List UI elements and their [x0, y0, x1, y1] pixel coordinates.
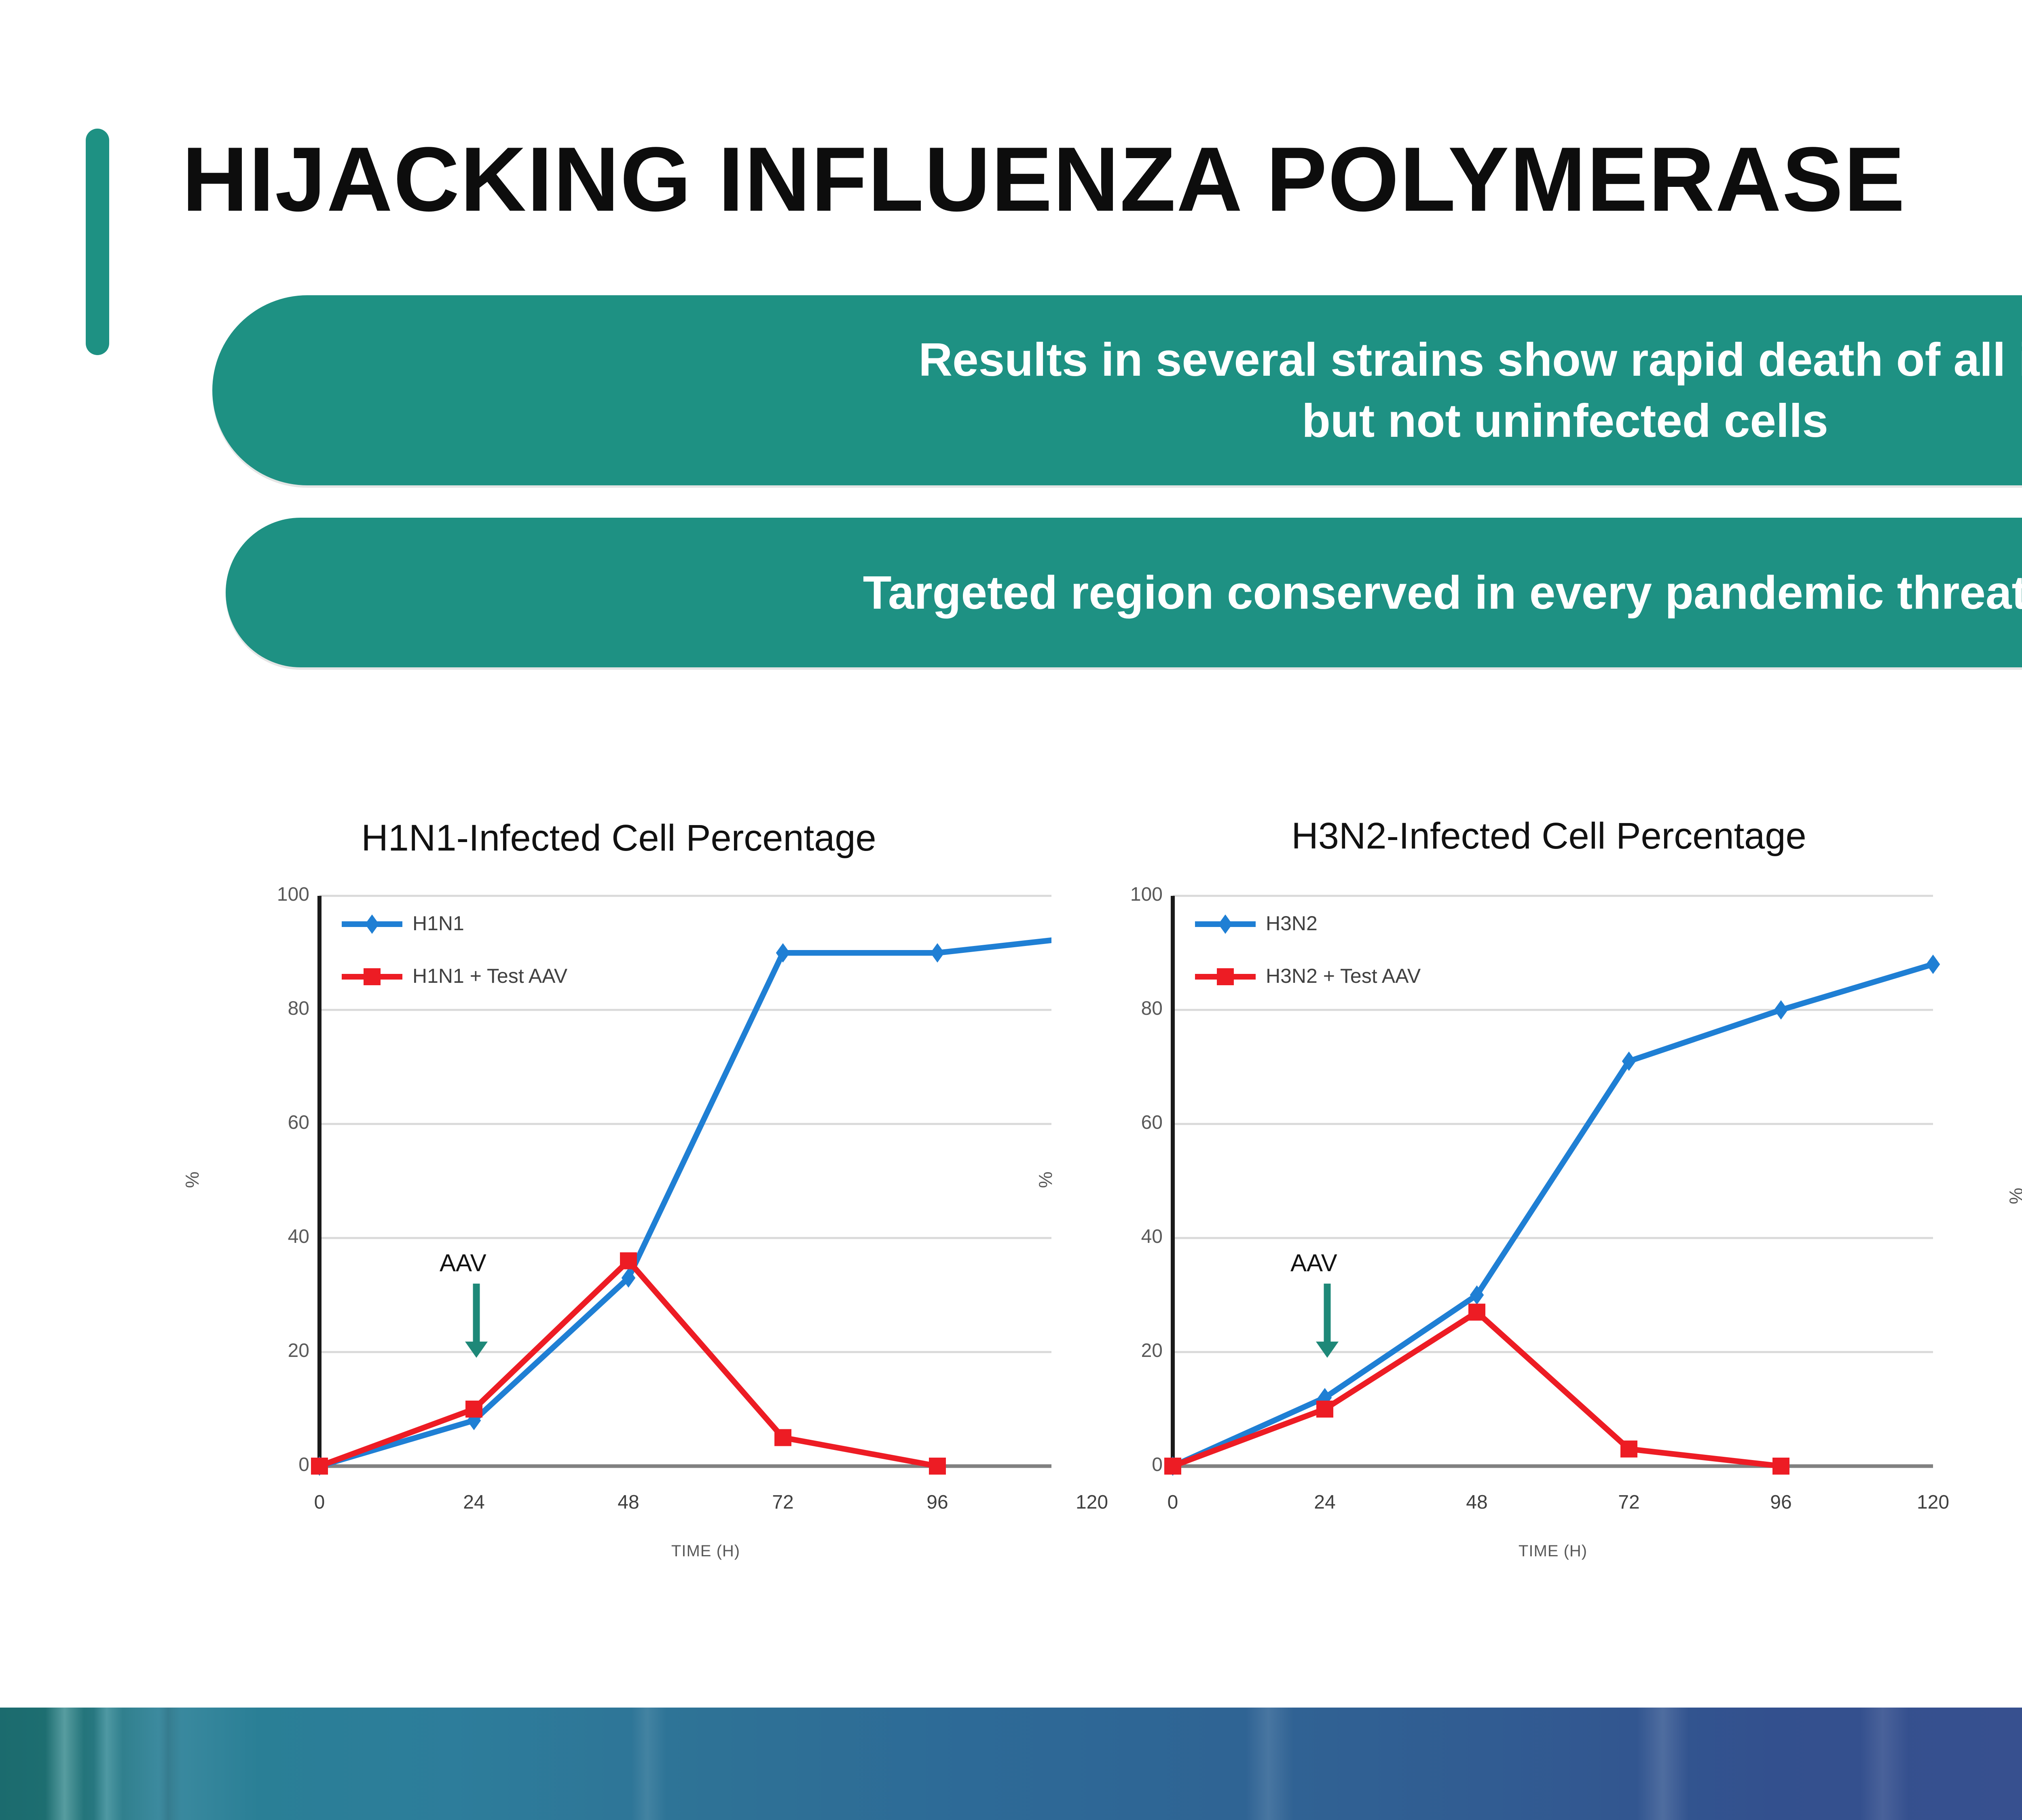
x-axis-title: TIME (H) [319, 1542, 1092, 1560]
marker-square [311, 1458, 328, 1475]
x-tick-label: 0 [259, 1491, 380, 1513]
marker-diamond [1926, 954, 1940, 974]
y-tick-label: 20 [1082, 1340, 1163, 1362]
x-tick-label: 24 [1264, 1491, 1385, 1513]
y-tick-label: 100 [228, 883, 309, 906]
x-tick-label: 72 [1568, 1491, 1690, 1513]
plot-area [1092, 809, 2022, 1577]
marker-square [620, 1252, 637, 1269]
legend-marker-diamond [365, 914, 379, 934]
legend-item-label: H1N1 [412, 912, 464, 935]
legend-marker-square [1217, 968, 1234, 985]
banner-1-line-1: Results in several strains show rapid de… [918, 329, 2022, 390]
marker-diamond [931, 943, 945, 963]
page-title: HIJACKING INFLUENZA POLYMERASE [182, 133, 1906, 225]
marker-square [1164, 1458, 1181, 1475]
banner-1-line-2: but not uninfected cells [918, 390, 2022, 451]
series-line [1173, 1312, 1781, 1466]
legend-marker-diamond [1218, 914, 1233, 934]
series-line [1173, 964, 1933, 1466]
x-tick-label: 96 [877, 1491, 998, 1513]
marker-square [774, 1429, 791, 1446]
y-tick-label: 80 [228, 997, 309, 1020]
decorative-footer-strip [0, 1708, 2022, 1820]
y-tick-label: 40 [1082, 1225, 1163, 1248]
x-tick-label: 120 [1872, 1491, 1994, 1513]
y-tick-label: 0 [1082, 1454, 1163, 1476]
marker-square [465, 1401, 482, 1418]
y-tick-label: 80 [1082, 997, 1163, 1020]
legend-item-label: H3N2 + Test AAV [1266, 964, 1421, 988]
aav-annotation-label: AAV [440, 1249, 486, 1277]
y-tick-label: 60 [228, 1111, 309, 1134]
series-line [319, 936, 1051, 1466]
marker-diamond [1774, 1000, 1788, 1020]
callout-banner-1: Results in several strains show rapid de… [212, 295, 2022, 485]
y-tick-label: 0 [228, 1454, 309, 1476]
x-tick-label: 96 [1720, 1491, 1842, 1513]
legend-item-label: H1N1 + Test AAV [412, 964, 567, 988]
x-axis-title: TIME (H) [1173, 1542, 1933, 1560]
x-tick-label: 0 [1112, 1491, 1233, 1513]
y-tick-label: 60 [1082, 1111, 1163, 1134]
chart-1: H1N1-Infected Cell PercentageH1N1H1N1 + … [101, 809, 1051, 1577]
y-tick-label: 100 [1082, 883, 1163, 906]
y-axis-title: % [181, 1147, 203, 1212]
marker-square [1620, 1441, 1637, 1458]
chart-2: H3N2-Infected Cell PercentageH3N2H3N2 + … [1092, 809, 2022, 1577]
legend-marker-square [364, 968, 381, 985]
y-tick-label: 20 [228, 1340, 309, 1362]
marker-square [929, 1458, 946, 1475]
marker-square [1468, 1304, 1485, 1321]
callout-banner-2: Targeted region conserved in every pande… [226, 518, 2022, 667]
marker-square [1316, 1401, 1333, 1418]
x-tick-label: 24 [413, 1491, 535, 1513]
y-axis-title: % [1034, 1147, 1056, 1212]
y-axis-title: % [2005, 1164, 2022, 1228]
marker-square [1772, 1458, 1789, 1475]
x-tick-label: 72 [722, 1491, 844, 1513]
y-tick-label: 40 [228, 1225, 309, 1248]
x-tick-label: 48 [1416, 1491, 1538, 1513]
title-accent-bar [86, 129, 109, 355]
legend-item-label: H3N2 [1266, 912, 1318, 935]
series-line [319, 1261, 937, 1466]
banner-2-line-1: Targeted region conserved in every pande… [863, 562, 2022, 623]
aav-annotation-label: AAV [1290, 1249, 1337, 1277]
aav-arrow-head [465, 1342, 488, 1358]
aav-arrow-head [1316, 1342, 1339, 1358]
x-tick-label: 48 [568, 1491, 689, 1513]
